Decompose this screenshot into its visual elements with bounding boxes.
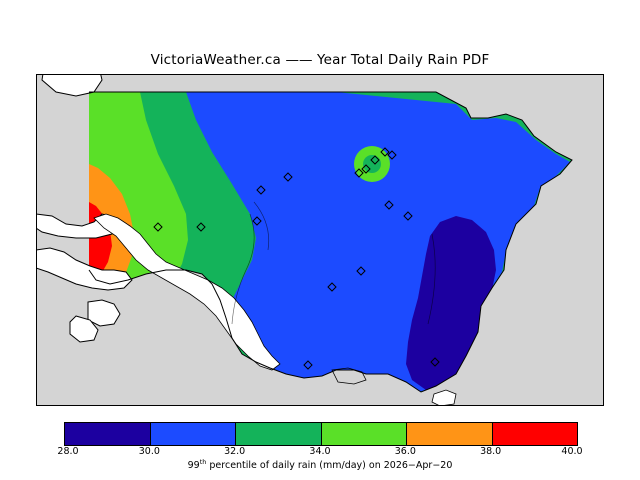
colorbar-tick-label: 28.0 [57,446,78,457]
map-layers [36,74,604,406]
colorbar-tick-label: 30.0 [139,446,160,457]
colorbar-swatch-5 [492,423,578,445]
map-graphic [36,74,604,406]
colorbar-swatch-3 [321,423,407,445]
colorbar[interactable] [64,422,578,446]
colorbar-tick-label: 36.0 [395,446,416,457]
colorbar-swatch-0 [65,423,150,445]
colorbar-ticks: 28.030.032.034.036.038.040.0 [0,446,640,458]
map-panel[interactable] [36,74,604,406]
title-text: Year Total Daily Rain PDF [317,52,489,68]
colorbar-swatch-1 [150,423,236,445]
caption-rest: percentile of daily rain (mm/day) on 202… [206,460,452,471]
title-site: VictoriaWeather.ca [151,52,281,68]
colorbar-tick-label: 32.0 [224,446,245,457]
colorbar-tick-label: 38.0 [480,446,501,457]
title-separator: —— [286,52,313,68]
colorbar-tick-label: 40.0 [561,446,582,457]
screenshot-root: VictoriaWeather.ca —— Year Total Daily R… [0,0,640,480]
colorbar-caption: 99th percentile of daily rain (mm/day) o… [0,458,640,471]
colorbar-swatch-2 [235,423,321,445]
colorbar-swatch-4 [406,423,492,445]
colorbar-tick-label: 34.0 [309,446,330,457]
caption-prefix: 99 [188,460,200,471]
page-title: VictoriaWeather.ca —— Year Total Daily R… [0,52,640,68]
